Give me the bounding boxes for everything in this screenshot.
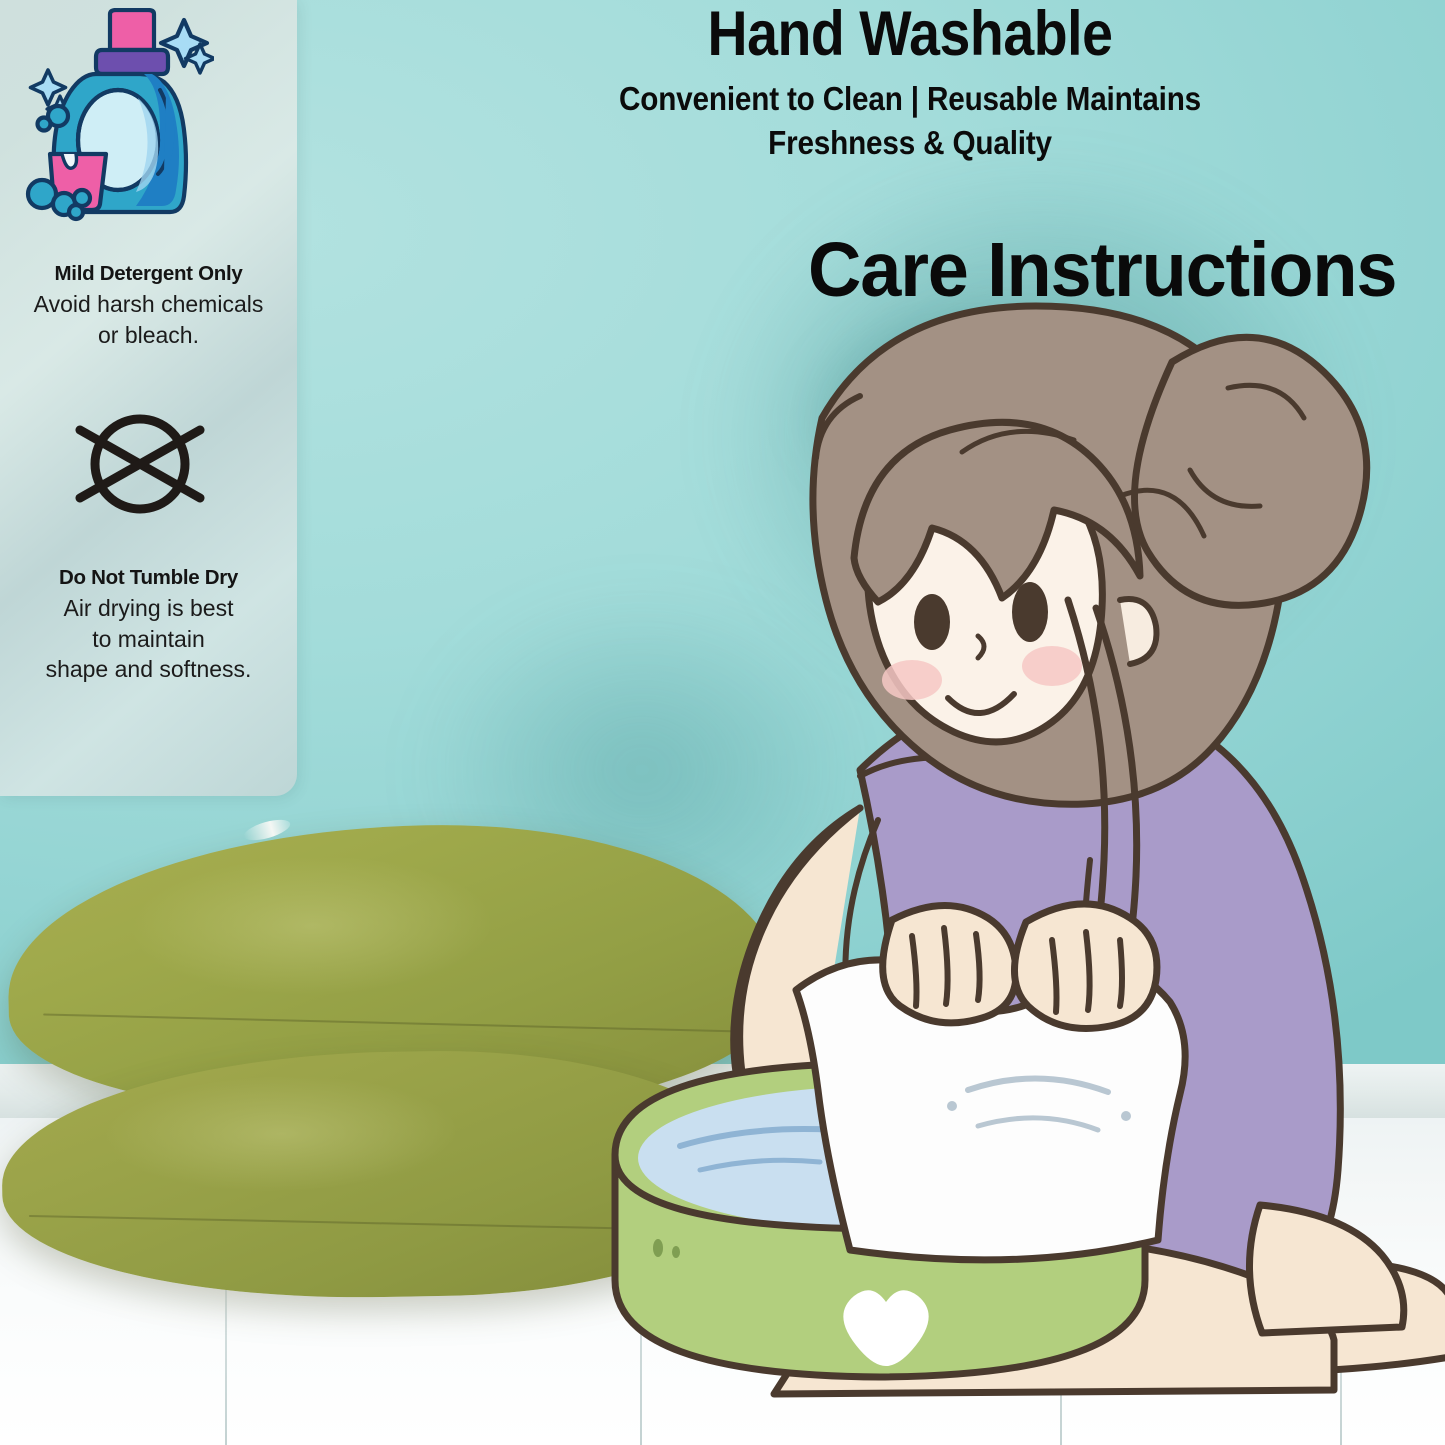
care-item-title: Do Not Tumble Dry xyxy=(0,566,297,590)
care-item-body-line1: Air drying is best xyxy=(0,593,297,624)
section-title: Care Instructions xyxy=(808,226,1396,315)
do-not-tumble-dry-icon xyxy=(64,404,216,524)
headline-block: Hand Washable Convenient to Clean | Reus… xyxy=(470,2,1350,165)
care-item-tumble-dry: Do Not Tumble Dry Air drying is best to … xyxy=(0,566,297,685)
care-item-body: Air drying is best to maintain shape and… xyxy=(0,593,297,685)
care-item-detergent: Mild Detergent Only Avoid harsh chemical… xyxy=(0,262,297,350)
care-item-body-line3: shape and softness. xyxy=(0,654,297,685)
care-item-title: Mild Detergent Only xyxy=(0,262,297,286)
care-item-body: Avoid harsh chemicals or bleach. xyxy=(0,289,297,350)
product-infographic: Hand Washable Convenient to Clean | Reus… xyxy=(0,0,1445,1445)
care-item-body-line2: to maintain xyxy=(0,624,297,655)
care-instructions-panel: Mild Detergent Only Avoid harsh chemical… xyxy=(0,0,297,796)
care-item-body-line1: Avoid harsh chemicals xyxy=(0,289,297,320)
page-title: Hand Washable xyxy=(523,2,1297,67)
pillow-highlight xyxy=(70,1070,493,1227)
pillow-highlight xyxy=(96,849,530,1038)
detergent-bottle-icon xyxy=(14,8,214,224)
care-item-body-line2: or bleach. xyxy=(0,320,297,351)
headline-subtitle: Convenient to Clean | Reusable Maintains… xyxy=(514,77,1306,165)
headline-subtitle-line2: Freshness & Quality xyxy=(514,121,1306,165)
headline-subtitle-line1: Convenient to Clean | Reusable Maintains xyxy=(514,77,1306,121)
cartoon-illustration xyxy=(560,300,1445,1445)
